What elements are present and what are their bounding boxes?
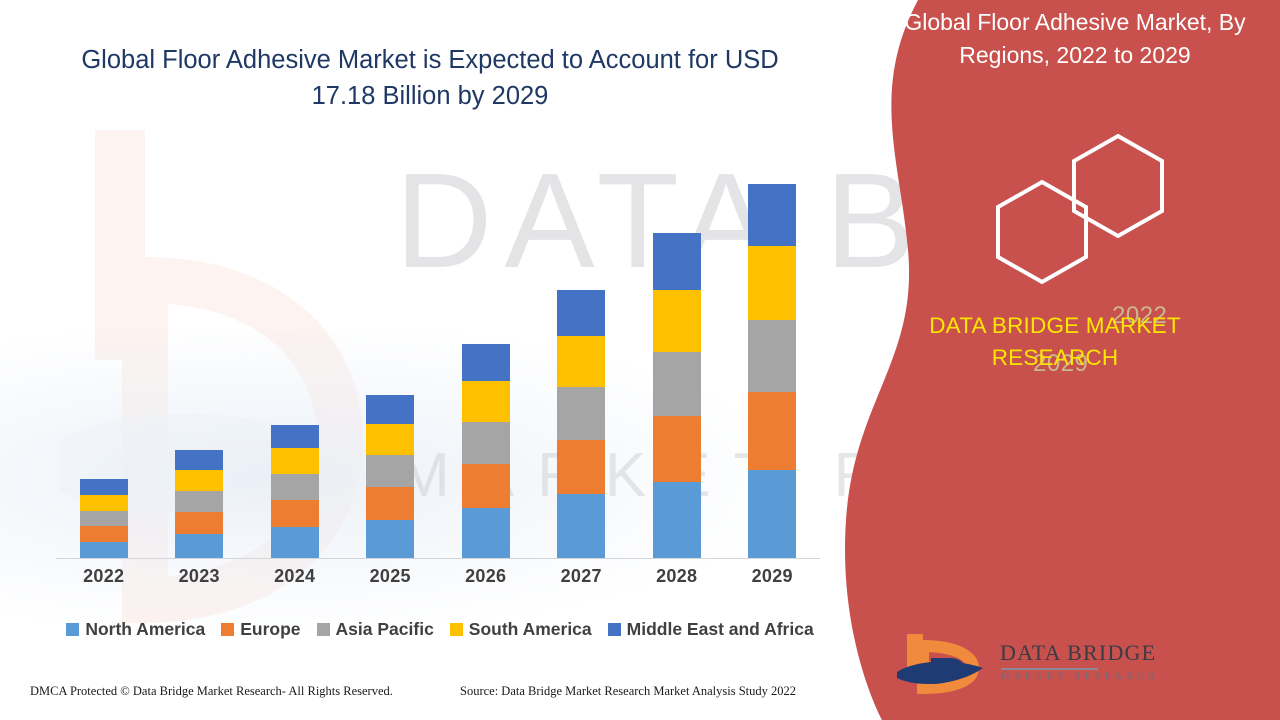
- x-axis-tick-label: 2024: [247, 566, 342, 596]
- legend-label: Middle East and Africa: [627, 619, 814, 640]
- bar-segment: [557, 336, 605, 387]
- bar-stack: [653, 233, 701, 558]
- bar-segment: [80, 479, 128, 495]
- bar-segment: [557, 387, 605, 440]
- bar-segment: [366, 395, 414, 424]
- bar-column: [629, 160, 724, 558]
- bar-stack: [271, 425, 319, 558]
- bar-column: [152, 160, 247, 558]
- bar-segment: [175, 470, 223, 491]
- x-axis-tick-label: 2029: [725, 566, 820, 596]
- bar-stack: [557, 290, 605, 558]
- legend-swatch-icon: [317, 623, 330, 636]
- legend-item[interactable]: North America: [66, 619, 205, 640]
- bar-segment: [462, 381, 510, 422]
- x-axis-tick-labels: 20222023202420252026202720282029: [56, 566, 820, 596]
- bar-segment: [80, 495, 128, 511]
- brand-name-text: DATA BRIDGE MARKET RESEARCH: [875, 310, 1235, 374]
- legend-label: Europe: [240, 619, 300, 640]
- legend-swatch-icon: [608, 623, 621, 636]
- footer-source: Source: Data Bridge Market Research Mark…: [460, 684, 796, 699]
- bar-segment: [271, 527, 319, 558]
- bar-segment: [557, 440, 605, 494]
- hexagon-badges: 2022 2029: [930, 130, 1230, 300]
- bar-segment: [80, 542, 128, 558]
- bar-segment: [462, 344, 510, 381]
- bar-segment: [748, 184, 796, 246]
- bar-segment: [748, 392, 796, 470]
- chart-legend: North AmericaEuropeAsia PacificSouth Ame…: [56, 615, 824, 643]
- infographic-canvas: DATA BRIDGE MARKET RESEARCH Global Floor…: [0, 0, 1280, 720]
- brand-panel-title: Global Floor Adhesive Market, By Regions…: [890, 6, 1260, 72]
- chart-pane: Global Floor Adhesive Market is Expected…: [0, 0, 900, 720]
- bar-segment: [271, 448, 319, 474]
- logo-divider: [1001, 668, 1098, 670]
- bar-segment: [653, 233, 701, 290]
- bar-segment: [653, 290, 701, 352]
- bar-column: [247, 160, 342, 558]
- logo-wordmark: DATA BRIDGE: [1000, 640, 1156, 666]
- hexagon-outlines-icon: [930, 130, 1230, 300]
- bar-segment: [175, 450, 223, 470]
- bar-segment: [271, 474, 319, 500]
- bar-segment: [271, 500, 319, 527]
- bar-segment: [462, 464, 510, 508]
- bar-column: [56, 160, 151, 558]
- legend-item[interactable]: South America: [450, 619, 592, 640]
- bar-segment: [557, 290, 605, 336]
- bar-column: [725, 160, 820, 558]
- x-axis-line: [56, 558, 820, 559]
- bar-segment: [366, 487, 414, 520]
- bar-segment: [653, 416, 701, 482]
- x-axis-tick-label: 2023: [152, 566, 247, 596]
- chart-title: Global Floor Adhesive Market is Expected…: [60, 42, 800, 114]
- x-axis-tick-label: 2026: [438, 566, 533, 596]
- bar-stack: [175, 450, 223, 558]
- bar-column: [534, 160, 629, 558]
- bar-segment: [748, 246, 796, 320]
- bar-segment: [748, 470, 796, 558]
- legend-label: Asia Pacific: [336, 619, 434, 640]
- bar-segment: [175, 491, 223, 512]
- bar-column: [438, 160, 533, 558]
- brand-panel: Global Floor Adhesive Market, By Regions…: [830, 0, 1280, 720]
- bar-stack: [462, 344, 510, 558]
- legend-label: North America: [85, 619, 205, 640]
- logo-tagline: MARKET RESEARCH: [1001, 672, 1159, 682]
- bar-segment: [653, 352, 701, 416]
- bar-stack: [80, 479, 128, 558]
- x-axis-tick-label: 2027: [534, 566, 629, 596]
- bar-stack: [748, 184, 796, 558]
- bar-column: [343, 160, 438, 558]
- bar-stack: [366, 395, 414, 558]
- x-axis-tick-label: 2025: [343, 566, 438, 596]
- legend-swatch-icon: [221, 623, 234, 636]
- bar-segment: [175, 534, 223, 558]
- bar-segment: [653, 482, 701, 558]
- bar-segment: [175, 512, 223, 534]
- legend-item[interactable]: Middle East and Africa: [608, 619, 814, 640]
- bar-segment: [80, 511, 128, 526]
- stacked-bar-group: [56, 160, 820, 558]
- legend-item[interactable]: Asia Pacific: [317, 619, 434, 640]
- bar-segment: [462, 422, 510, 464]
- legend-item[interactable]: Europe: [221, 619, 300, 640]
- bar-segment: [748, 320, 796, 392]
- bar-segment: [462, 508, 510, 558]
- bar-segment: [557, 494, 605, 558]
- bar-segment: [366, 520, 414, 558]
- x-axis-tick-label: 2022: [56, 566, 151, 596]
- footer-copyright: DMCA Protected © Data Bridge Market Rese…: [30, 684, 393, 699]
- legend-swatch-icon: [66, 623, 79, 636]
- bar-segment: [366, 455, 414, 487]
- bar-segment: [80, 526, 128, 542]
- legend-swatch-icon: [450, 623, 463, 636]
- bar-segment: [271, 425, 319, 448]
- legend-label: South America: [469, 619, 592, 640]
- bar-segment: [366, 424, 414, 455]
- x-axis-tick-label: 2028: [629, 566, 724, 596]
